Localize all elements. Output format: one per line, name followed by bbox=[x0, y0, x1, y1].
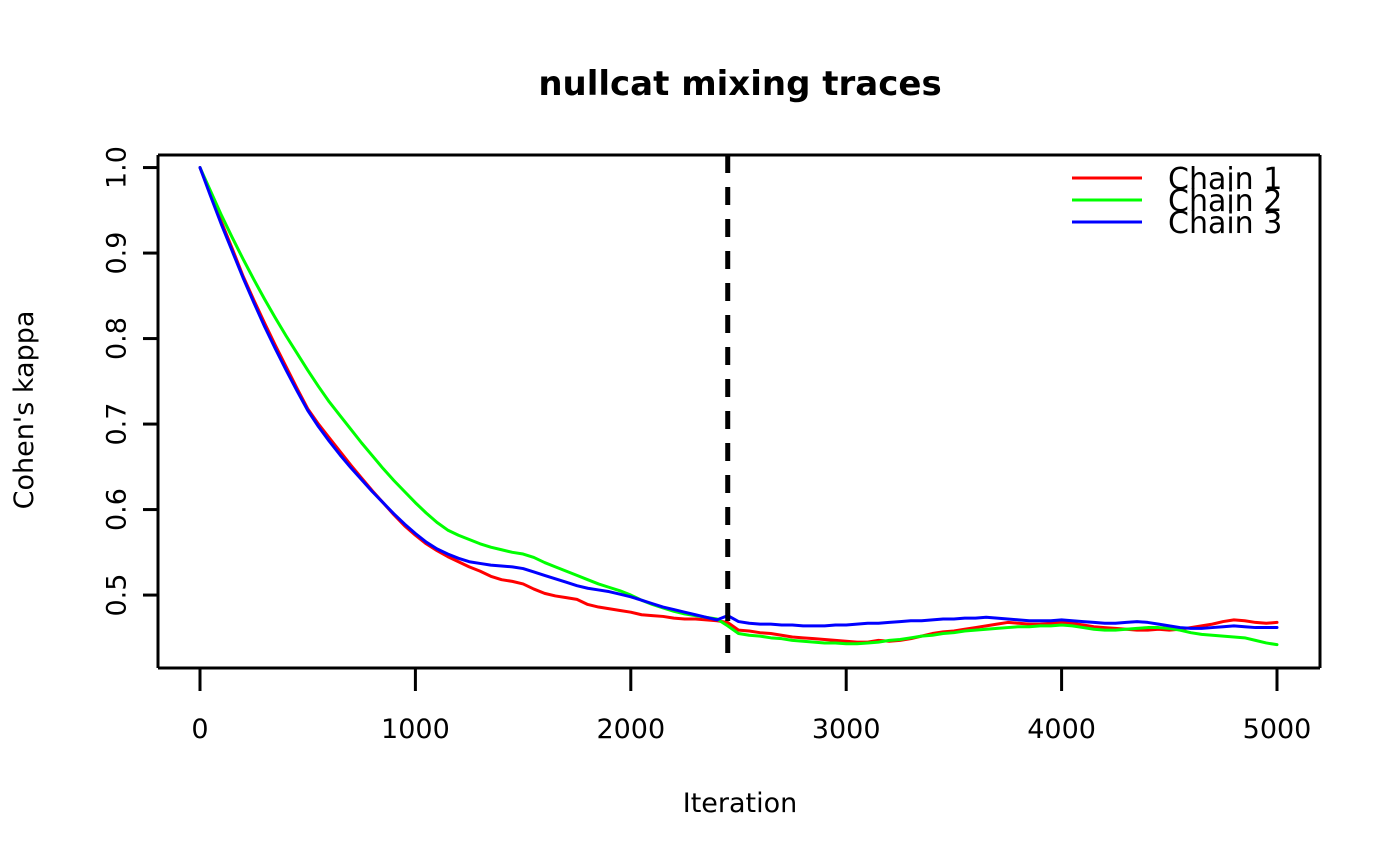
y-tick-label: 0.9 bbox=[102, 232, 133, 275]
y-tick-label: 0.7 bbox=[102, 403, 133, 446]
x-tick-label: 5000 bbox=[1243, 714, 1312, 745]
x-tick-label: 4000 bbox=[1027, 714, 1096, 745]
x-tick-label: 3000 bbox=[812, 714, 881, 745]
plot-root: nullcat mixing traces 0.50.60.70.80.91.0… bbox=[0, 0, 1400, 866]
page-title: nullcat mixing traces bbox=[538, 64, 941, 104]
x-tick-label: 2000 bbox=[596, 714, 665, 745]
chart-background bbox=[0, 0, 1400, 866]
x-tick-label: 0 bbox=[191, 714, 208, 745]
y-axis-title: Cohen's kappa bbox=[9, 311, 40, 510]
y-tick-label: 0.6 bbox=[102, 488, 133, 531]
x-tick-label: 1000 bbox=[381, 714, 450, 745]
legend-label-3: Chain 3 bbox=[1168, 206, 1282, 241]
x-axis-title: Iteration bbox=[683, 788, 798, 819]
y-tick-label: 0.8 bbox=[102, 317, 133, 360]
y-tick-label: 1.0 bbox=[102, 146, 133, 189]
y-tick-label: 0.5 bbox=[102, 574, 133, 617]
chart-canvas: nullcat mixing traces 0.50.60.70.80.91.0… bbox=[0, 0, 1400, 866]
